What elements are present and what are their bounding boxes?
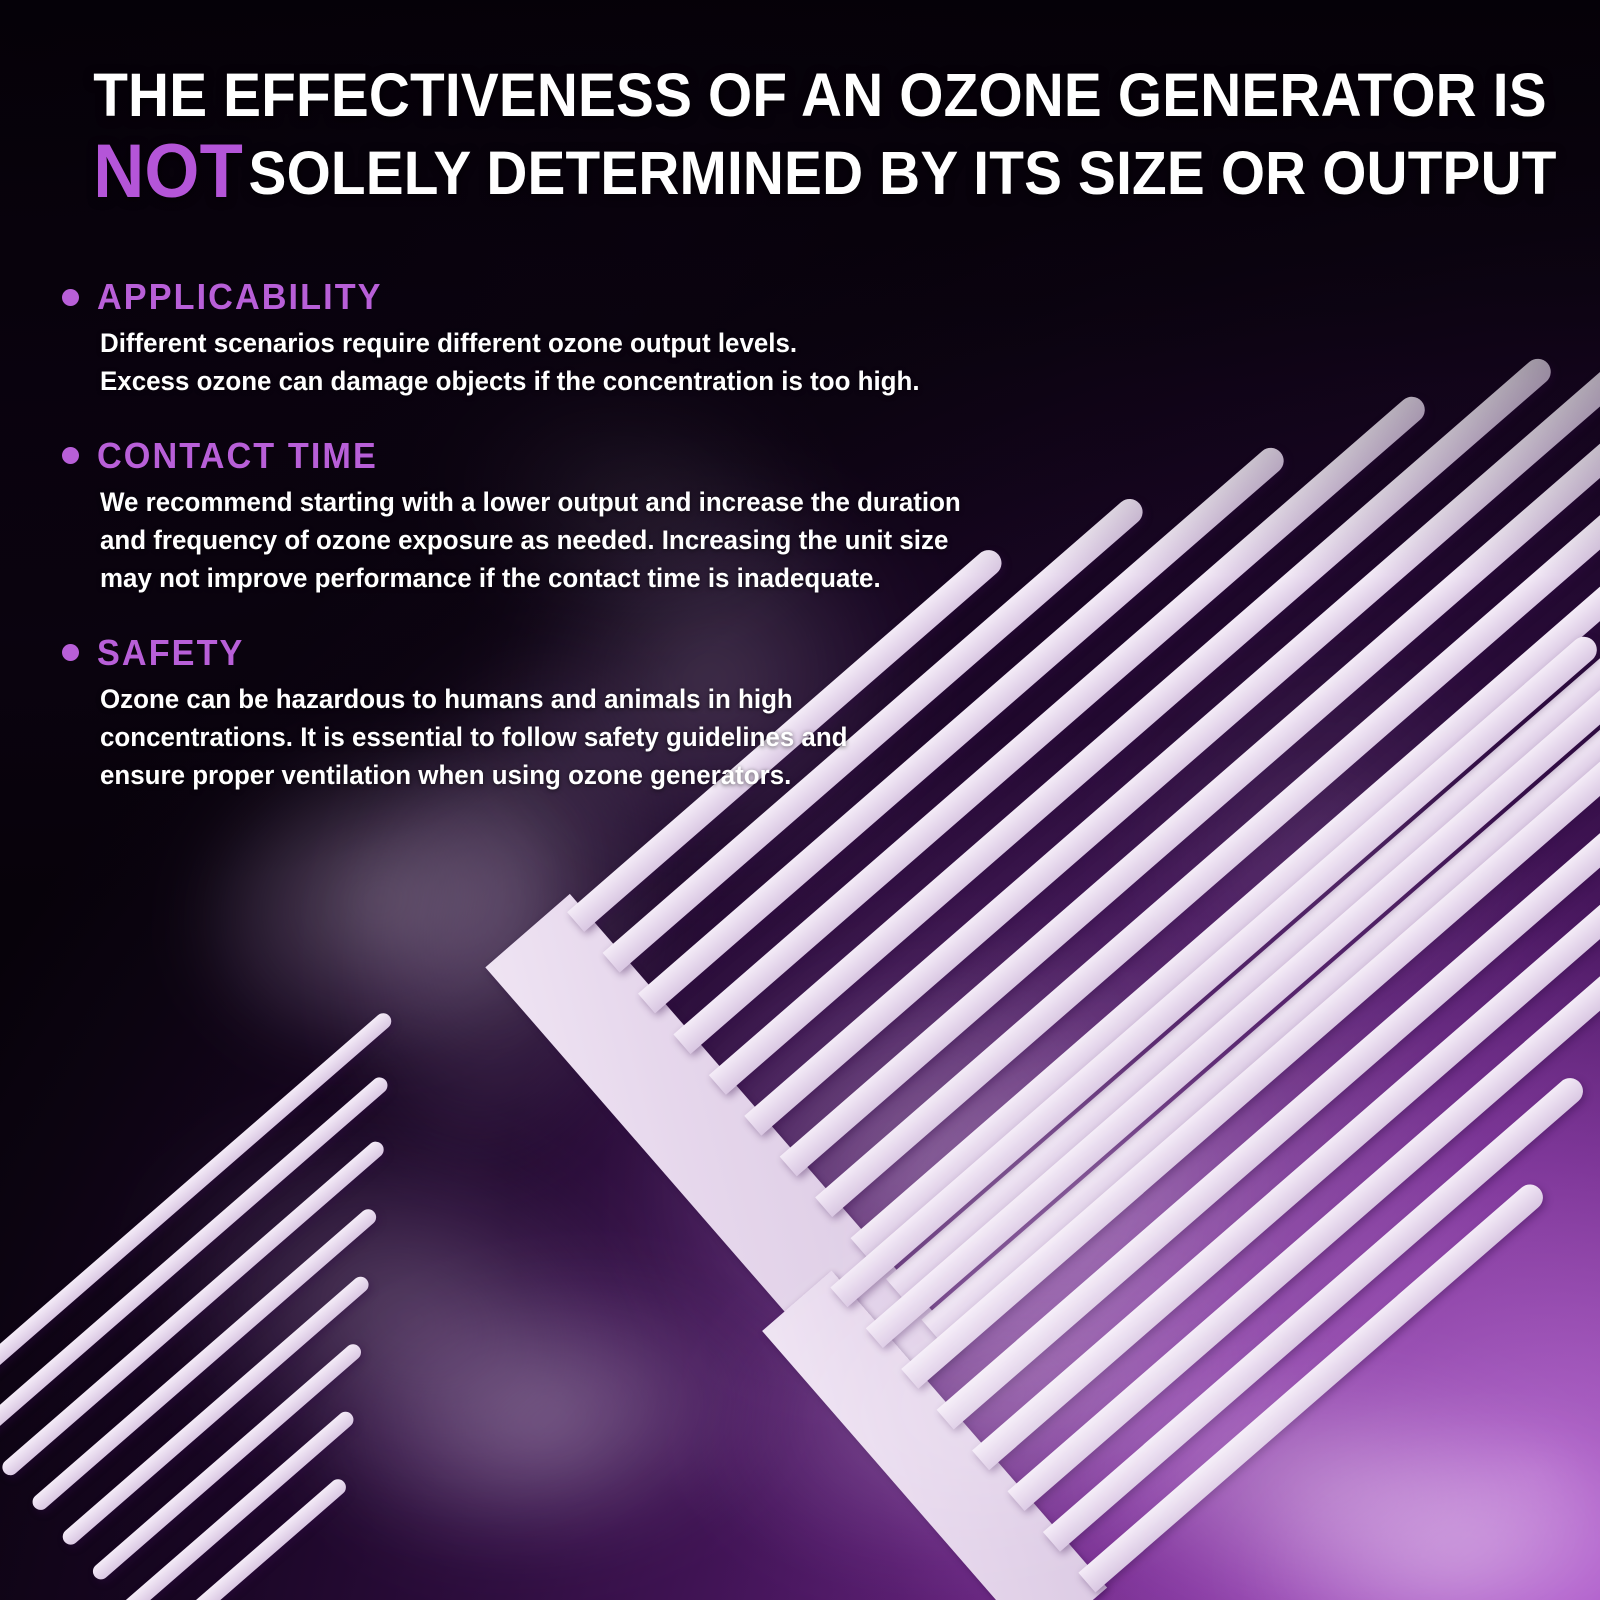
plate-finger — [150, 1476, 349, 1600]
headline-line-2: NOTSOLELY DETERMINED BY ITS SIZE OR OUTP… — [93, 134, 1507, 212]
plate-finger — [1078, 1179, 1548, 1592]
ozone-plate-graphic — [0, 0, 1600, 1600]
plate-finger — [29, 1206, 379, 1513]
smoke-wisp — [1162, 1362, 1600, 1600]
plate-finger — [972, 873, 1600, 1470]
bullet-heading: SAFETY — [58, 632, 1218, 674]
bullet-title: CONTACT TIME — [97, 435, 378, 477]
bullet-block-contact-time: CONTACT TIME We recommend starting with … — [58, 435, 1218, 598]
plate-finger — [0, 1074, 391, 1444]
bullet-body: We recommend starting with a lower outpu… — [100, 483, 1173, 598]
bullet-dot-icon — [62, 644, 79, 661]
infographic-poster: THE EFFECTIVENESS OF AN OZONE GENERATOR … — [0, 0, 1600, 1600]
vignette-top-left — [0, 0, 1600, 1600]
plate-finger — [1043, 1073, 1588, 1552]
vignette-top — [0, 0, 1600, 1600]
headline-line-1: THE EFFECTIVENESS OF AN OZONE GENERATOR … — [93, 56, 1507, 134]
plate-finger — [0, 1010, 395, 1409]
bullet-body-line: concentrations. It is essential to follo… — [100, 718, 1173, 756]
bullet-title: APPLICABILITY — [97, 276, 383, 318]
smoke-wisp — [476, 766, 1325, 1554]
bullet-body-line: We recommend starting with a lower outpu… — [100, 483, 1173, 521]
smoke-wisp — [584, 1106, 1417, 1600]
bullet-body: Ozone can be hazardous to humans and ani… — [100, 680, 1173, 795]
background-glow-center — [0, 0, 1600, 1600]
bullet-dot-icon — [62, 289, 79, 306]
smoke-wisp — [0, 966, 824, 1600]
smoke-wisp — [212, 1179, 889, 1600]
plate-finger — [901, 726, 1600, 1389]
plate-finger — [0, 1138, 387, 1478]
headline-highlight-not: NOT — [93, 129, 243, 214]
smoke-layer-back — [0, 0, 1600, 1600]
bullet-body-line: Ozone can be hazardous to humans and ani… — [100, 680, 1173, 718]
bullet-body-line: may not improve performance if the conta… — [100, 559, 1173, 597]
bullet-heading: APPLICABILITY — [58, 276, 1218, 318]
headline-line-2-rest: SOLELY DETERMINED BY ITS SIZE OR OUTPUT — [249, 139, 1557, 207]
plate-finger — [120, 1408, 357, 1600]
plate-finger — [90, 1341, 365, 1583]
smoke-layer-front — [0, 0, 1600, 1600]
background-base-gradient — [0, 0, 1600, 1600]
smoke-wisp — [964, 1284, 1600, 1600]
page-title: THE EFFECTIVENESS OF AN OZONE GENERATOR … — [56, 56, 1544, 212]
plate-finger — [59, 1273, 371, 1547]
bullet-heading: CONTACT TIME — [58, 435, 1218, 477]
bullet-body-line: Different scenarios require different oz… — [100, 324, 1173, 362]
bullet-body: Different scenarios require different oz… — [100, 324, 1173, 401]
bullet-title: SAFETY — [97, 632, 244, 674]
bullet-block-safety: SAFETY Ozone can be hazardous to humans … — [58, 632, 1218, 795]
bullet-block-applicability: APPLICABILITY Different scenarios requir… — [58, 276, 1218, 401]
plate-finger — [1008, 966, 1600, 1510]
bullet-body-line: ensure proper ventilation when using ozo… — [100, 756, 1173, 794]
background-glow-bottom-right — [0, 0, 1600, 1600]
smoke-wisp — [653, 835, 1467, 1600]
bullet-body-line: and frequency of ozone exposure as neede… — [100, 521, 1173, 559]
plate-finger — [937, 793, 1600, 1429]
bullet-dot-icon — [62, 447, 79, 464]
bullet-list: APPLICABILITY Different scenarios requir… — [58, 276, 1218, 795]
plate-spine — [762, 1271, 1107, 1600]
plate-spine — [485, 894, 963, 1420]
bullet-body-line: Excess ozone can damage objects if the c… — [100, 362, 1173, 400]
